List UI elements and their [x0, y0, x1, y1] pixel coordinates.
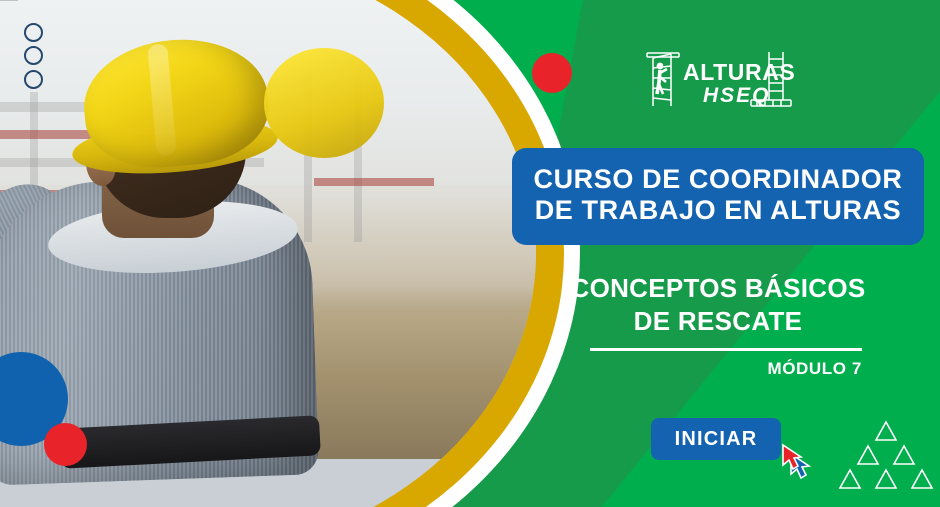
decor-circle-outline-3 — [24, 70, 43, 89]
decor-triangle-3 — [894, 446, 914, 464]
photo-base — [0, 0, 536, 459]
photo-crane-arm — [0, 0, 18, 1]
photo-medallion — [0, 0, 580, 507]
decor-triangle-group — [838, 420, 934, 492]
decor-triangle-2 — [858, 446, 878, 464]
photo-red-beam-3 — [314, 178, 434, 186]
worker-second-helmet — [264, 48, 384, 158]
module-subtitle: CONCEPTOS BÁSICOS DE RESCATE — [512, 272, 924, 339]
module-number-label: MÓDULO 7 — [512, 359, 862, 379]
course-title-box: CURSO DE COORDINADOR DE TRABAJO EN ALTUR… — [512, 148, 924, 245]
mouse-click-cursor-icon — [780, 443, 814, 479]
worker-photo-inner — [0, 0, 536, 459]
course-title-line-1: CURSO DE COORDINADOR — [532, 164, 904, 195]
module-subtitle-line-1: CONCEPTOS BÁSICOS — [512, 272, 924, 305]
course-cover-slide: ALTURAS HSEQ CURSO DE COORDINADOR DE TRA… — [0, 0, 940, 507]
decor-circle-red-top — [532, 53, 572, 93]
course-title-line-2: DE TRABAJO EN ALTURAS — [532, 195, 904, 226]
decor-circle-red-left — [44, 423, 87, 466]
decor-circle-outline-2 — [24, 46, 43, 65]
decor-triangle-6 — [912, 470, 932, 488]
logo-svg: ALTURAS HSEQ — [645, 50, 800, 112]
module-subtitle-line-2: DE RESCATE — [512, 305, 924, 338]
logo-name: ALTURAS — [683, 59, 795, 85]
decor-circle-outline-1 — [24, 23, 43, 42]
logo-tagline: HSEQ — [703, 84, 771, 107]
start-button[interactable]: INICIAR — [651, 418, 781, 460]
subtitle-divider — [590, 348, 862, 351]
decor-triangle-4 — [840, 470, 860, 488]
decor-triangle-5 — [876, 470, 896, 488]
decor-triangle-1 — [876, 422, 896, 440]
brand-logo: ALTURAS HSEQ — [645, 50, 800, 112]
